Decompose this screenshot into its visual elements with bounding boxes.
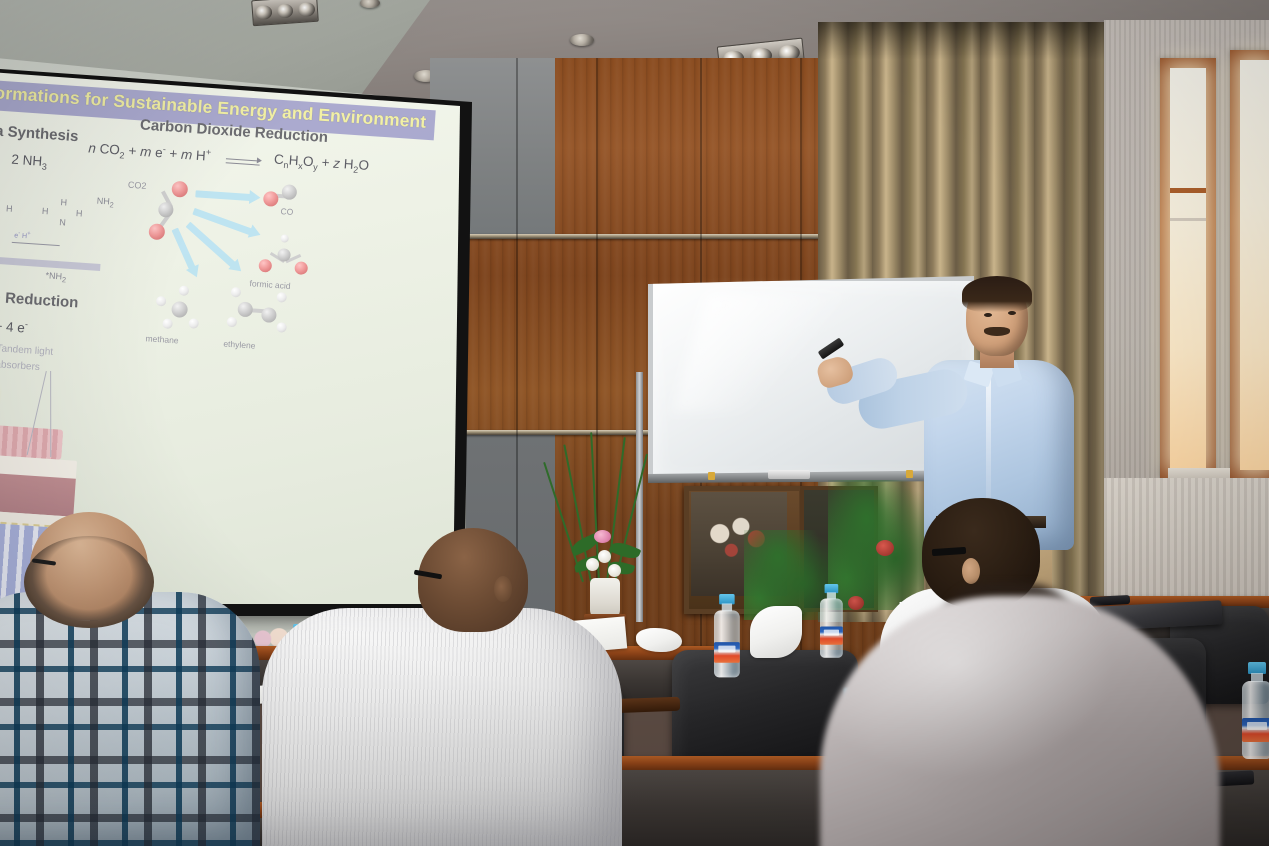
white-flower [608,564,621,577]
molecule-ethylene [224,285,293,341]
molecule-label-methane: methane [145,333,179,345]
slide-equation-co2-left: n CO2 + m e- + m H+ [88,139,212,166]
mechanism-atom-label: NH2 [96,196,114,210]
presenter-eye [1008,311,1016,315]
window-mullion [1170,188,1206,193]
ceiling-downlight [570,34,594,46]
window-glass [1170,68,1206,468]
conference-room-photo: ...sformations for Sustainable Energy an… [0,0,1269,846]
mechanism-atom-label: H [42,206,49,216]
window-mullion [1170,218,1206,221]
slide-equation-oxygen: 2 + 4 H+ + 4 e- [0,314,28,339]
mechanism-transfer-label: e- H+ [14,230,31,240]
molecule-label-ethylene: ethylene [223,339,256,351]
tissue [636,628,682,652]
rolled-paper [750,606,802,658]
mechanism-arrow-icon [12,242,60,246]
presenter-eye [984,313,992,317]
surface-species-label: *NH2 [45,270,67,284]
red-flower [848,596,864,610]
molecule-label-co: CO [280,206,293,217]
equilibrium-arrow-icon [226,156,263,167]
presenter-hair [962,276,1032,312]
molecule-formic-acid [256,235,315,281]
attendee-white-shirt-head [418,528,528,632]
attendee-plaid-shirt-body [0,592,260,846]
mechanism-atom-label: H [60,197,67,207]
molecule-methane [152,284,207,335]
slide-equation-ammonia: 2 NH3 [11,152,48,172]
surface-bar [0,254,101,271]
window-glass [1240,60,1269,470]
slide-equation-co2-right: CnHxOy + z H2O [273,152,369,176]
tray-clip [708,472,715,480]
curtain-header-shadow [818,22,1108,60]
mechanism-atom-label: N [59,217,66,227]
pink-flower [594,530,611,543]
white-flower [586,558,599,571]
white-flower [598,550,611,563]
flower-arrangement [568,432,644,622]
tandem-absorber-label: Tandem light [0,343,53,358]
attendee-white-shirt-body [262,608,622,846]
whiteboard-eraser [768,470,810,479]
surface-species-label: *NH2 [0,266,1,280]
mechanism-atom-label: H [6,203,13,213]
slide-heading-oxygen: Oxygen Reduction [0,286,79,312]
mechanism-atom-label: H [76,208,83,218]
attendee-white-shirt-ear [494,576,512,602]
attendee-plaid-shirt-hair [24,536,154,628]
attendee-glasses-ear [962,558,980,584]
ceiling-spotlight-bar [251,0,319,26]
slide-heading-ammonia: monia Synthesis [0,120,79,145]
presenter-mustache [984,327,1010,336]
molecule-label-co2: CO2 [128,180,147,191]
